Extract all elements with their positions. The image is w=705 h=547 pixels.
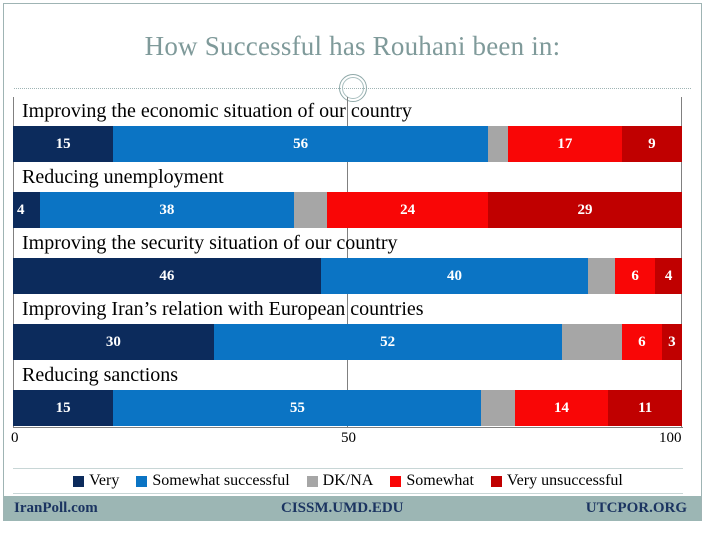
bar-segment-dk-na — [562, 324, 622, 360]
bar-segment-very-unsuccessful: 9 — [622, 126, 682, 162]
legend-item[interactable]: Very unsuccessful — [491, 472, 623, 490]
chart-legend: VerySomewhat successfulDK/NASomewhatVery… — [13, 468, 683, 494]
bar-segment-very: 15 — [13, 126, 113, 162]
category-label: Improving the security situation of our … — [22, 230, 397, 257]
legend-label: DK/NA — [323, 472, 374, 490]
x-axis-tick-50: 50 — [341, 430, 356, 447]
chart-plot-area: Improving the economic situation of our … — [13, 97, 682, 427]
x-axis-line — [13, 427, 683, 428]
bar-segment-very-unsuccessful: 29 — [488, 192, 682, 228]
legend-swatch-icon — [136, 476, 147, 487]
legend-swatch-icon — [307, 476, 318, 487]
bar-segment-somewhat: 24 — [327, 192, 488, 228]
legend-item[interactable]: Very — [73, 472, 119, 490]
legend-label: Somewhat — [406, 472, 474, 490]
legend-item[interactable]: Somewhat — [390, 472, 474, 490]
bar-segment-somewhat-successful: 38 — [40, 192, 294, 228]
stacked-bar: 15551411 — [13, 390, 682, 426]
bar-segment-dk-na — [294, 192, 327, 228]
slide-canvas: How Successful has Rouhani been in: Impr… — [0, 0, 705, 547]
bar-segment-somewhat-successful: 55 — [113, 390, 481, 426]
bar-segment-somewhat-successful: 40 — [321, 258, 589, 294]
stacked-bar: 464064 — [13, 258, 682, 294]
page-title: How Successful has Rouhani been in: — [145, 31, 561, 62]
stacked-bar: 4382429 — [13, 192, 682, 228]
legend-item[interactable]: Somewhat successful — [136, 472, 289, 490]
bar-segment-somewhat-successful: 52 — [214, 324, 562, 360]
bar-segment-somewhat: 17 — [508, 126, 622, 162]
bar-segment-dk-na — [588, 258, 615, 294]
bar-segment-very: 4 — [13, 192, 40, 228]
bar-segment-very-unsuccessful: 11 — [608, 390, 682, 426]
bar-segment-very-unsuccessful: 3 — [662, 324, 682, 360]
chart-category-row: Improving the economic situation of our … — [13, 97, 682, 163]
chart-category-row: Improving Iran’s relation with European … — [13, 295, 682, 361]
bar-segment-dk-na — [481, 390, 514, 426]
bar-segment-somewhat: 14 — [515, 390, 609, 426]
legend-item[interactable]: DK/NA — [307, 472, 374, 490]
footer-cissm-link[interactable]: CISSM.UMD.EDU — [281, 500, 404, 517]
stacked-bar: 1556179 — [13, 126, 682, 162]
bar-segment-very: 30 — [13, 324, 214, 360]
stacked-bar: 305263 — [13, 324, 682, 360]
category-label: Improving the economic situation of our … — [22, 98, 412, 125]
x-axis-tick-0: 0 — [11, 430, 19, 447]
chart-category-row: Improving the security situation of our … — [13, 229, 682, 295]
category-label: Improving Iran’s relation with European … — [22, 296, 424, 323]
bar-segment-somewhat: 6 — [615, 258, 655, 294]
chart-category-row: Reducing unemployment4382429 — [13, 163, 682, 229]
footer-utcpor-link[interactable]: UTCPOR.ORG — [586, 500, 687, 517]
bar-segment-somewhat-successful: 56 — [113, 126, 488, 162]
footer-bar: IranPoll.com CISSM.UMD.EDU UTCPOR.ORG — [4, 496, 701, 521]
legend-swatch-icon — [390, 476, 401, 487]
category-label: Reducing sanctions — [22, 362, 178, 389]
legend-label: Very — [89, 472, 119, 490]
bar-segment-somewhat: 6 — [622, 324, 662, 360]
footer-iranpoll-link[interactable]: IranPoll.com — [14, 500, 98, 517]
bar-segment-very: 15 — [13, 390, 113, 426]
legend-label: Somewhat successful — [152, 472, 289, 490]
legend-swatch-icon — [73, 476, 84, 487]
chart-category-row: Reducing sanctions15551411 — [13, 361, 682, 427]
x-axis-tick-100: 100 — [659, 430, 682, 447]
bar-segment-dk-na — [488, 126, 508, 162]
category-label: Reducing unemployment — [22, 164, 224, 191]
legend-swatch-icon — [491, 476, 502, 487]
bar-segment-very-unsuccessful: 4 — [655, 258, 682, 294]
legend-label: Very unsuccessful — [507, 472, 623, 490]
bar-segment-very: 46 — [13, 258, 321, 294]
